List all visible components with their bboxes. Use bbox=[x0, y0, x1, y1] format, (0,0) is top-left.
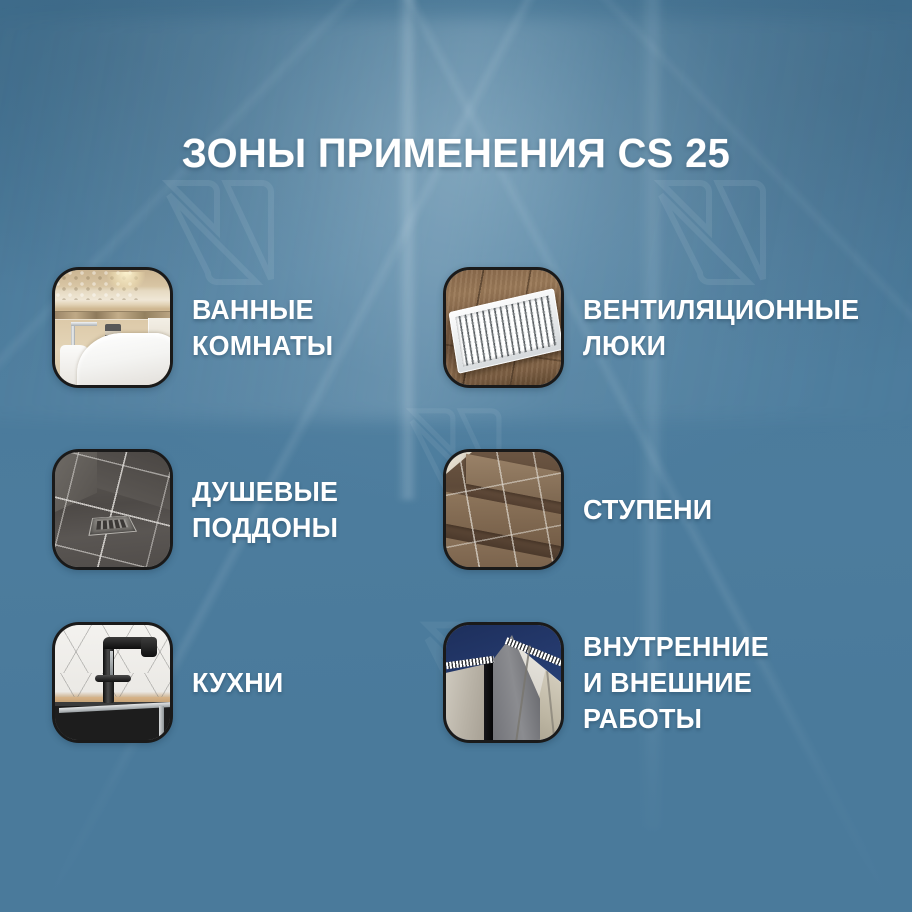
zone-item-ventilation-hatches[interactable]: ВЕНТИЛЯЦИОННЫЕ ЛЮКИ bbox=[443, 267, 871, 388]
zone-item-kitchens[interactable]: КУХНИ bbox=[52, 622, 287, 743]
ventilation-grille-photo-icon bbox=[443, 267, 564, 388]
zone-item-shower-trays[interactable]: ДУШЕВЫЕ ПОДДОНЫ bbox=[52, 449, 344, 570]
zone-item-interior-exterior-works[interactable]: ВНУТРЕННИЕ И ВНЕШНИЕ РАБОТЫ bbox=[443, 622, 777, 743]
zone-label: ВАННЫЕ КОМНАТЫ bbox=[192, 292, 333, 364]
building-facade-photo-icon bbox=[443, 622, 564, 743]
zone-item-bathrooms[interactable]: ВАННЫЕ КОМНАТЫ bbox=[52, 267, 339, 388]
bathroom-photo-icon bbox=[52, 267, 173, 388]
zone-item-steps[interactable]: СТУПЕНИ bbox=[443, 449, 718, 570]
zone-label: СТУПЕНИ bbox=[583, 492, 712, 528]
zone-label: ДУШЕВЫЕ ПОДДОНЫ bbox=[192, 474, 338, 546]
zones-grid: ВАННЫЕ КОМНАТЫ ВЕНТИЛЯЦИОННЫЕ ЛЮКИ bbox=[0, 0, 912, 912]
zone-label: КУХНИ bbox=[192, 665, 283, 701]
tiled-steps-photo-icon bbox=[443, 449, 564, 570]
kitchen-faucet-photo-icon bbox=[52, 622, 173, 743]
zone-label: ВЕНТИЛЯЦИОННЫЕ ЛЮКИ bbox=[583, 292, 859, 364]
shower-tray-photo-icon bbox=[52, 449, 173, 570]
zone-label: ВНУТРЕННИЕ И ВНЕШНИЕ РАБОТЫ bbox=[583, 629, 769, 737]
poster-canvas: ЗОНЫ ПРИМЕНЕНИЯ CS 25 ВАННЫЕ КОМНАТЫ bbox=[0, 0, 912, 912]
